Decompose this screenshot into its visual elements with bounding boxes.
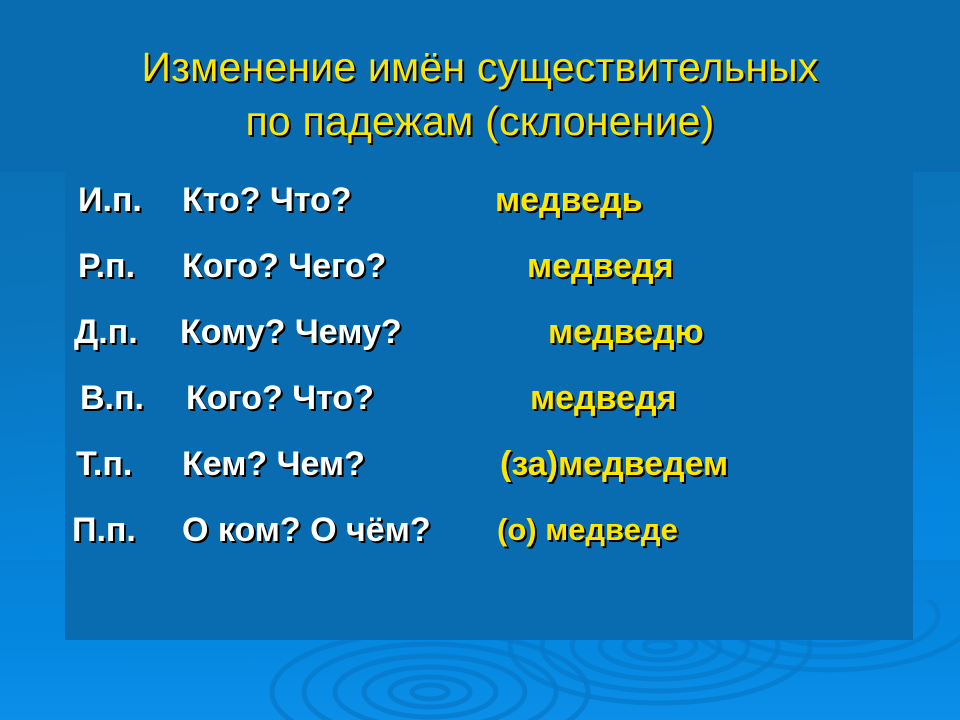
case-questions: Кому? Чему? bbox=[180, 304, 402, 360]
declined-word: медведю bbox=[548, 304, 704, 360]
table-row: И.п. Кто? Что? медведь bbox=[0, 172, 960, 238]
declined-word: медведя bbox=[527, 238, 673, 294]
case-questions: Кого? Что? bbox=[186, 370, 374, 426]
case-label: Д.п. bbox=[74, 304, 138, 360]
declined-word: (о) медведе bbox=[497, 502, 678, 558]
case-questions: Кого? Чего? bbox=[182, 238, 386, 294]
case-label: В.п. bbox=[80, 370, 144, 426]
case-label: П.п. bbox=[72, 502, 136, 558]
table-row: Т.п. Кем? Чем? (за)медведем bbox=[0, 436, 960, 502]
declined-word: (за)медведем bbox=[500, 436, 728, 492]
table-row: Д.п. Кому? Чему? медведю bbox=[0, 304, 960, 370]
declined-word: медведь bbox=[495, 172, 643, 228]
case-label: Т.п. bbox=[76, 436, 132, 492]
case-questions: Кто? Что? bbox=[182, 172, 352, 228]
slide: Изменение имён существительных по падежа… bbox=[0, 0, 960, 720]
table-row: П.п. О ком? О чём? (о) медведе bbox=[0, 502, 960, 568]
case-label: Р.п. bbox=[78, 238, 135, 294]
page-title: Изменение имён существительных по падежа… bbox=[0, 40, 960, 148]
case-questions: О ком? О чём? bbox=[182, 502, 431, 558]
table-row: Р.п. Кого? Чего? медведя bbox=[0, 238, 960, 304]
case-label: И.п. bbox=[78, 172, 142, 228]
table-row: В.п. Кого? Что? медведя bbox=[0, 370, 960, 436]
declension-table: И.п. Кто? Что? медведь Р.п. Кого? Чего? … bbox=[0, 172, 960, 568]
declined-word: медведя bbox=[530, 370, 676, 426]
case-questions: Кем? Чем? bbox=[182, 436, 365, 492]
